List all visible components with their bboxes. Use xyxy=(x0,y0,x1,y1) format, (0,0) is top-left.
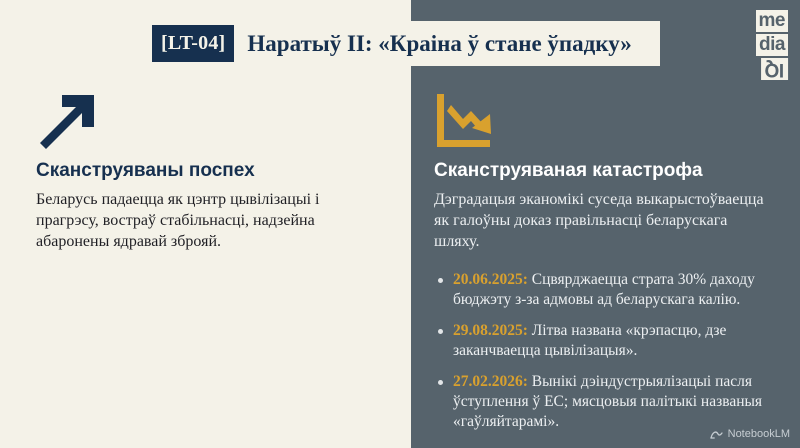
logo-line-iq: IQ xyxy=(761,58,788,80)
slide-canvas: [LT-04] Наратыў II: «Краіна ў стане ўпад… xyxy=(0,0,800,448)
list-item: 27.02.2026: Вынікі дэіндустрыялізацыі па… xyxy=(434,372,774,432)
slide-title-band: [LT-04] Наратыў II: «Краіна ў стане ўпад… xyxy=(140,21,660,66)
left-column: Сканструяваны поспех Беларусь падаецца я… xyxy=(36,92,366,253)
left-column-heading: Сканструяваны поспех xyxy=(36,160,366,182)
event-date: 29.08.2025: xyxy=(453,322,528,339)
list-item: 29.08.2025: Літва названа «крэпасцю, дзе… xyxy=(434,321,774,361)
mediaiq-logo: me dia IQ xyxy=(716,10,788,80)
right-column-body: Дэградацыя эканомікі суседа выкарыстоўва… xyxy=(434,189,774,253)
slide-title: Наратыў II: «Краіна ў стане ўпадку» xyxy=(247,32,631,55)
event-date: 27.02.2026: xyxy=(453,373,528,390)
list-item: 20.06.2025: Сцвярджаецца страта 30% дахо… xyxy=(434,270,774,310)
event-list: 20.06.2025: Сцвярджаецца страта 30% дахо… xyxy=(434,270,774,433)
notebooklm-icon xyxy=(710,429,723,440)
notebooklm-label: NotebookLM xyxy=(728,429,790,440)
logo-line-dia: dia xyxy=(756,34,788,56)
right-column-heading: Сканструяваная катастрофа xyxy=(434,160,774,182)
event-date: 20.06.2025: xyxy=(453,271,528,288)
arrow-up-right-icon xyxy=(36,92,366,154)
right-column: Сканструяваная катастрофа Дэградацыя эка… xyxy=(434,92,774,433)
logo-line-me: me xyxy=(756,10,788,32)
chart-decline-icon xyxy=(434,92,774,154)
notebooklm-watermark: NotebookLM xyxy=(710,429,790,440)
slide-tag-badge: [LT-04] xyxy=(152,25,234,62)
left-column-body: Беларусь падаецца як цэнтр цывілізацыі і… xyxy=(36,189,366,253)
